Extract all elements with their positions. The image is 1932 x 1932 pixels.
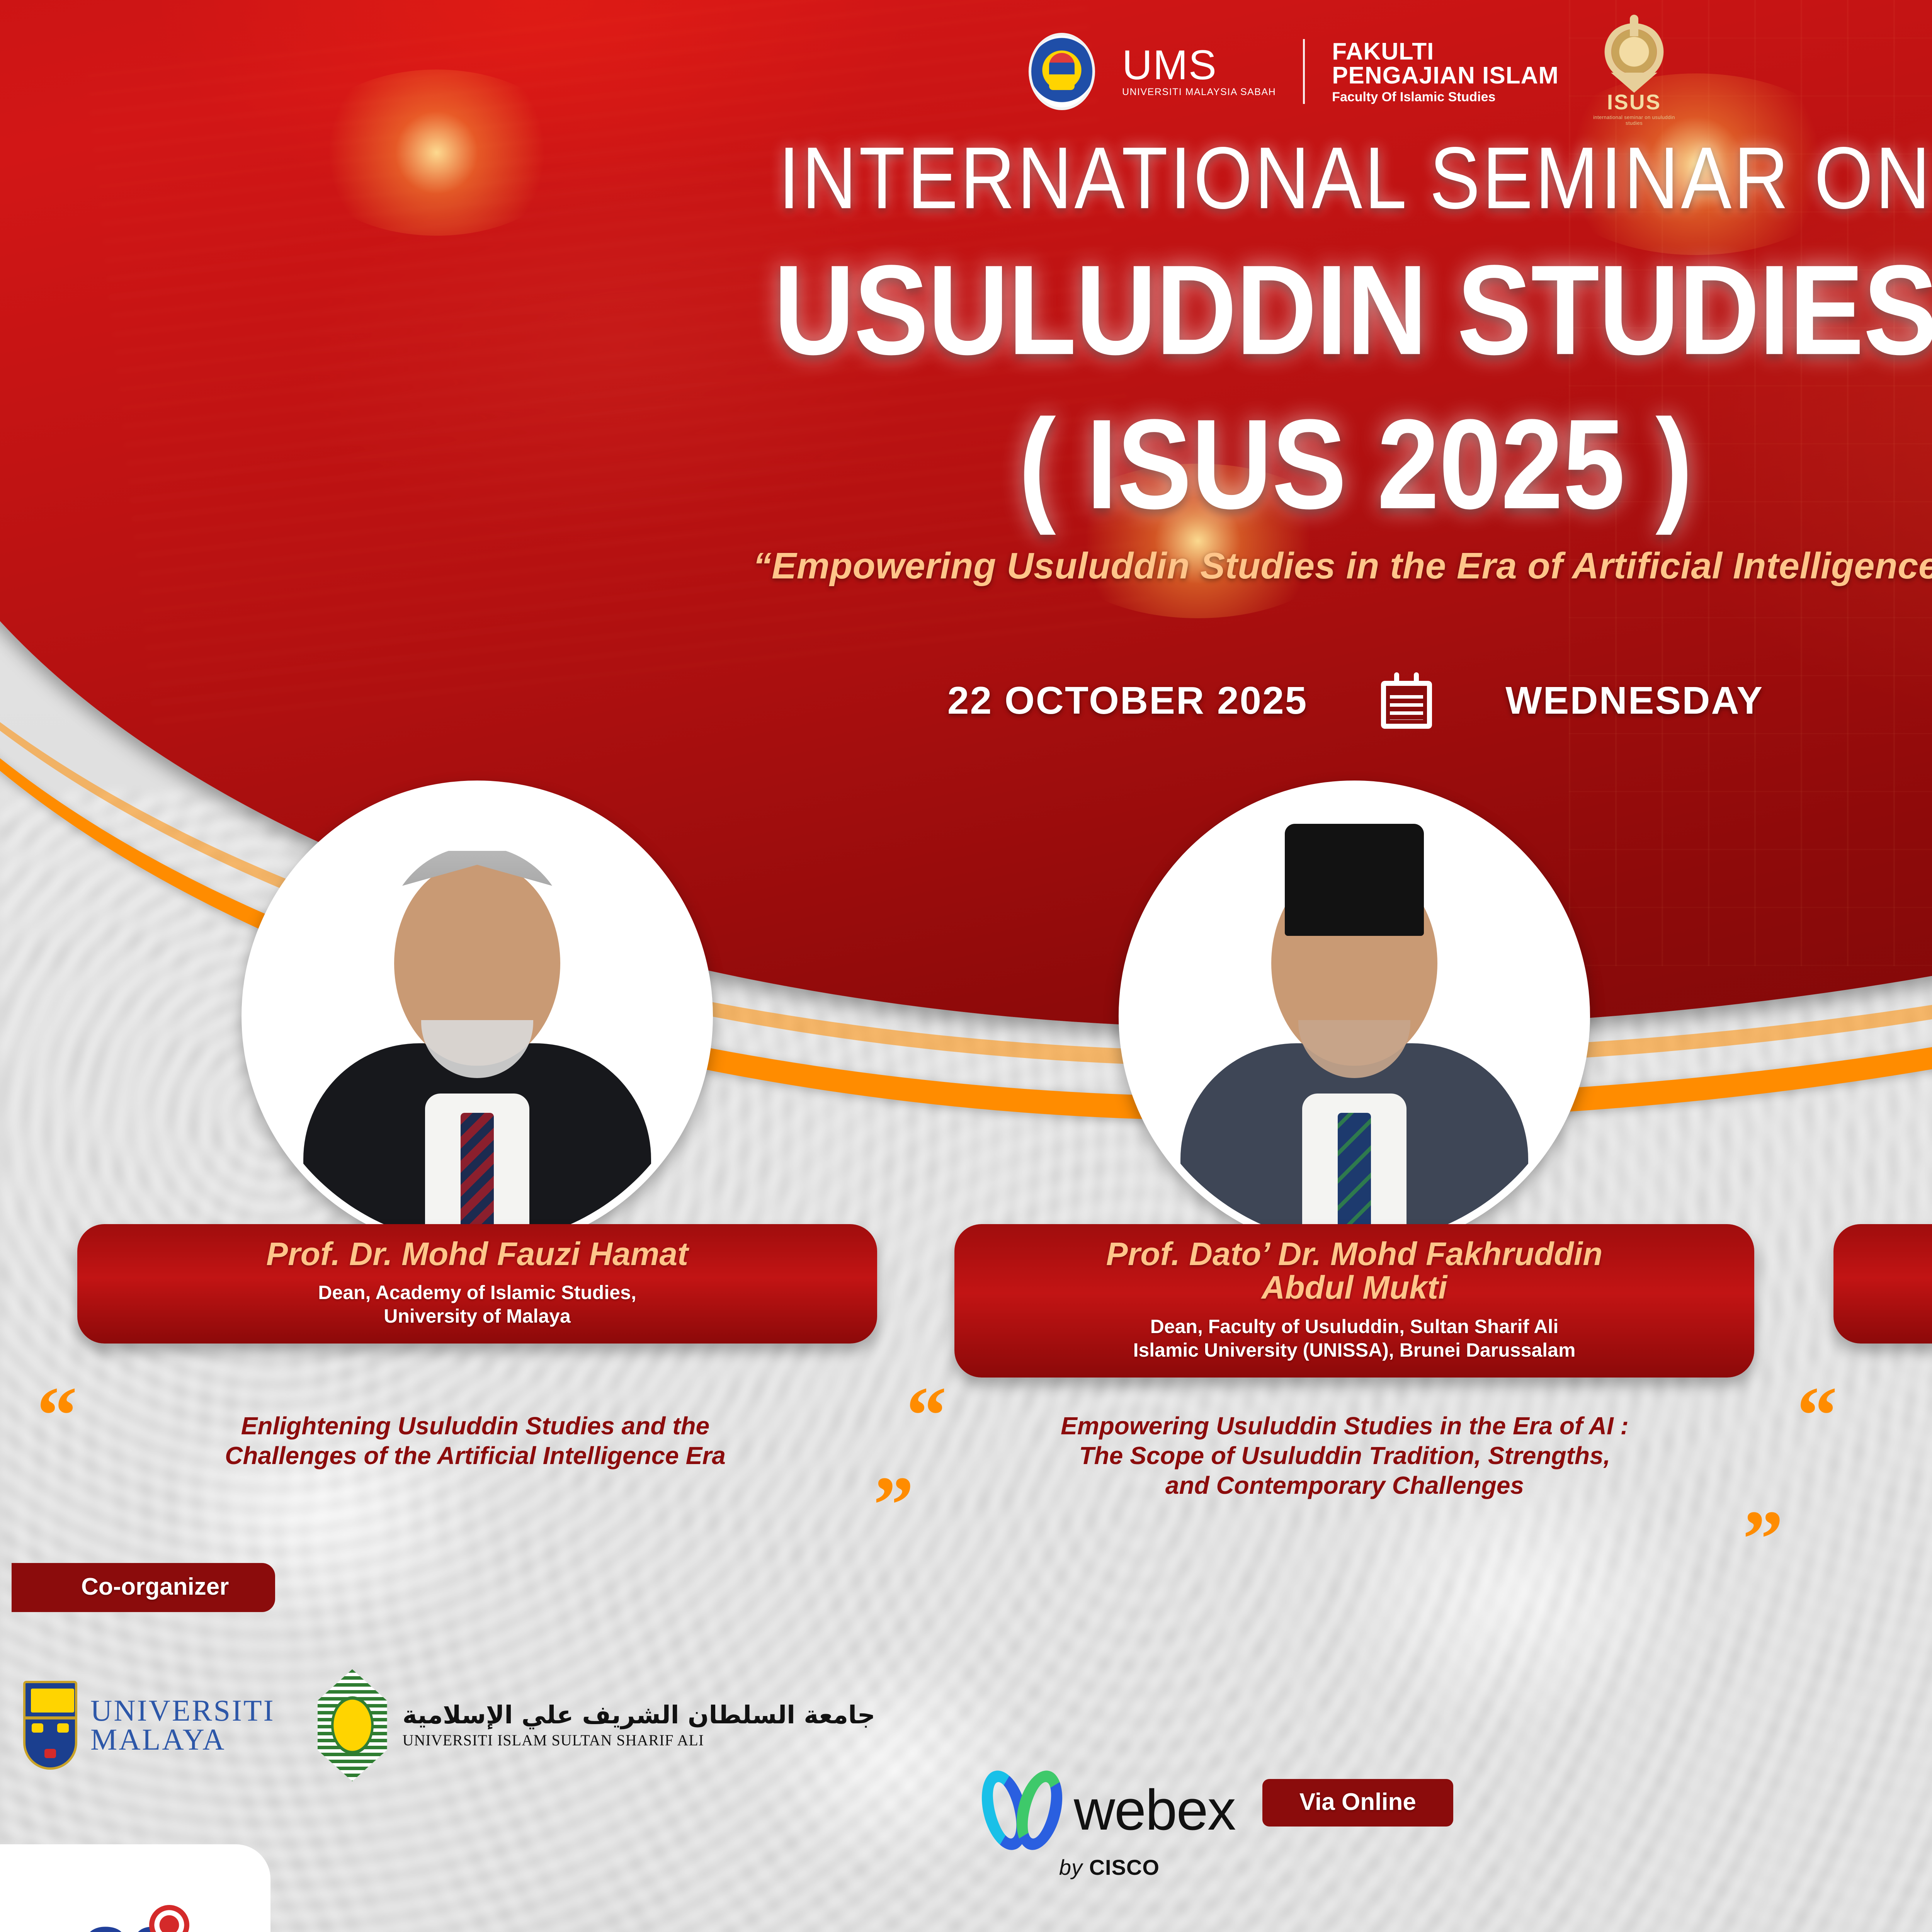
speaker-3-name-plate: Prof. Dr Muhamad Suhaimi Taat Dean, Facu… xyxy=(1833,1224,1932,1344)
topic-1: “ ” Enlightening Usuluddin Studies and t… xyxy=(37,1391,914,1471)
topic-2-text: Empowering Usuluddin Studies in the Era … xyxy=(906,1411,1783,1500)
unissa-emblem-icon xyxy=(318,1669,387,1781)
faculty-wordmark: FAKULTI PENGAJIAN ISLAM Faculty Of Islam… xyxy=(1332,40,1559,104)
speaker-1-avatar xyxy=(241,781,713,1252)
speaker-2-name-line2: Abdul Mukti xyxy=(978,1271,1731,1304)
speaker-3-name: Prof. Dr Muhamad Suhaimi Taat xyxy=(1857,1237,1932,1271)
faculty-line2: PENGAJIAN ISLAM xyxy=(1332,64,1559,88)
um-shield-icon xyxy=(23,1681,77,1770)
unissa-logo: جامعة السلطان الشريف علي الإسلامية UNIVE… xyxy=(318,1669,876,1781)
title-line1: INTERNATIONAL SEMINAR ON xyxy=(0,128,1932,228)
webex-icon xyxy=(983,1770,1061,1851)
topic-2: “ ” Empowering Usuluddin Studies in the … xyxy=(906,1391,1783,1500)
unissa-arabic-name: جامعة السلطان الشريف علي الإسلامية xyxy=(403,1702,876,1729)
quote-open-icon: “ xyxy=(37,1391,77,1440)
speaker-1-role-line1: Dean, Academy of Islamic Studies, xyxy=(100,1281,854,1304)
title-line2: USULUDDIN STUDIES xyxy=(0,237,1932,384)
um-crest-icon xyxy=(44,1749,56,1758)
via-online-badge: Via Online xyxy=(1262,1779,1453,1827)
um-line1: UNIVERSITI xyxy=(90,1696,275,1725)
title-block: INTERNATIONAL SEMINAR ON USULUDDIN STUDI… xyxy=(0,128,1932,520)
webex-wordmark: webex xyxy=(1074,1784,1235,1836)
co-organizer-label: Co-organizer xyxy=(12,1563,275,1612)
poster-canvas: UMS UNIVERSITI MALAYSIA SABAH FAKULTI PE… xyxy=(0,0,1932,1932)
ums-full-text: UNIVERSITI MALAYSIA SABAH xyxy=(1122,87,1276,98)
speaker-2-name-line1: Prof. Dato’ Dr. Mohd Fakhruddin xyxy=(978,1237,1731,1271)
um-lion-icon xyxy=(57,1723,69,1733)
um-band xyxy=(26,1716,75,1719)
isus-sub-text: international seminar on usuluddin studi… xyxy=(1586,114,1682,126)
calendar-icon xyxy=(1381,672,1432,729)
logo-divider xyxy=(1303,39,1305,104)
webex-by-cisco: by CISCO xyxy=(983,1855,1235,1880)
um-book-icon xyxy=(31,1689,74,1713)
topic-1-line1: Enlightening Usuluddin Studies and the xyxy=(118,1411,833,1441)
speaker-2-role-line2: Islamic University (UNISSA), Brunei Daru… xyxy=(978,1338,1731,1362)
topics-section: “ ” Enlightening Usuluddin Studies and t… xyxy=(0,1391,1932,1553)
um-line2: MALAYA xyxy=(90,1725,275,1754)
webex-logo: webex xyxy=(983,1770,1235,1851)
isus-abbr-text: ISUS xyxy=(1586,90,1682,114)
speaker-card-1: Prof. Dr. Mohd Fauzi Hamat Dean, Academy… xyxy=(43,781,912,1344)
calendar-body xyxy=(1381,681,1432,729)
topic-3-line3: Technological Innovation xyxy=(1878,1471,1932,1500)
seminar-subtitle: “Empowering Usuluddin Studies in the Era… xyxy=(0,545,1932,587)
unissa-wordmark: جامعة السلطان الشريف علي الإسلامية UNIVE… xyxy=(403,1702,876,1749)
speaker-1-name-plate: Prof. Dr. Mohd Fauzi Hamat Dean, Academy… xyxy=(77,1224,877,1344)
webex-cisco-brand: CISCO xyxy=(1089,1855,1160,1879)
speaker-card-2: Prof. Dato’ Dr. Mohd Fakhruddin Abdul Mu… xyxy=(920,781,1789,1378)
speaker-1-name: Prof. Dr. Mohd Fauzi Hamat xyxy=(100,1237,854,1271)
speaker-2-name-plate: Prof. Dato’ Dr. Mohd Fakhruddin Abdul Mu… xyxy=(954,1224,1754,1378)
title-line3: ( ISUS 2025 ) xyxy=(0,391,1932,538)
university-malaya-logo: UNIVERSITI MALAYA xyxy=(23,1681,275,1770)
event-date-row: 22 OCTOBER 2025 WEDNESDAY xyxy=(0,672,1932,729)
anniversary-number: 30 xyxy=(81,1918,174,1932)
um-wordmark: UNIVERSITI MALAYA xyxy=(90,1696,275,1754)
portrait-songkok-cap xyxy=(1285,824,1424,936)
topic-2-line3: and Contemporary Challenges xyxy=(987,1471,1702,1500)
topic-2-line1: Empowering Usuluddin Studies in the Era … xyxy=(987,1411,1702,1441)
speaker-2-role: Dean, Faculty of Usuluddin, Sultan Shari… xyxy=(978,1315,1731,1362)
event-day-text: WEDNESDAY xyxy=(1505,679,1764,723)
faculty-line1: FAKULTI xyxy=(1332,40,1559,64)
header-logo-bar: UMS UNIVERSITI MALAYSIA SABAH FAKULTI PE… xyxy=(0,15,1932,128)
quote-open-icon: “ xyxy=(906,1391,947,1440)
speaker-3-role-line2: University Malaysia Sabah xyxy=(1857,1304,1932,1328)
speaker-1-role: Dean, Academy of Islamic Studies, Univer… xyxy=(100,1281,854,1328)
topic-3-line2: Between the Legacy of Knowledge and xyxy=(1878,1441,1932,1471)
webex-by-prefix: by xyxy=(1059,1855,1089,1879)
webex-logo-group: webex by CISCO xyxy=(983,1770,1235,1880)
speakers-section: Prof. Dr. Mohd Fauzi Hamat Dean, Academy… xyxy=(0,781,1932,1406)
speaker-1-role-line2: University of Malaya xyxy=(100,1304,854,1328)
speaker-2-avatar xyxy=(1119,781,1590,1252)
faculty-line3: Faculty Of Islamic Studies xyxy=(1332,90,1559,104)
speaker-2-name: Prof. Dato’ Dr. Mohd Fakhruddin Abdul Mu… xyxy=(978,1237,1731,1305)
isus-emblem-icon xyxy=(1602,23,1667,88)
speaker-3-role-line1: Dean, Faculty of Islamic Studies, xyxy=(1857,1281,1932,1304)
topic-3-line1: Usuluddin and the AI Revolution : xyxy=(1878,1411,1932,1441)
speaker-1-portrait xyxy=(249,788,705,1244)
co-organizer-logos: UNIVERSITI MALAYA جامعة السلطان الشريف ع… xyxy=(23,1669,875,1781)
topic-1-text: Enlightening Usuluddin Studies and the C… xyxy=(37,1411,914,1471)
isus-logo: ISUS international seminar on usuluddin … xyxy=(1586,23,1682,120)
quote-open-icon: “ xyxy=(1797,1391,1837,1440)
anniversary-logo: 30 UNIVERSITI MALAYSIA SABAH 1994-2024 xyxy=(37,1918,218,1932)
topic-1-line2: Challenges of the Artificial Intelligenc… xyxy=(118,1441,833,1471)
speaker-3-role: Dean, Faculty of Islamic Studies, Univer… xyxy=(1857,1281,1932,1328)
speaker-2-portrait xyxy=(1126,788,1582,1244)
unissa-english-name: UNIVERSITI ISLAM SULTAN SHARIF ALI xyxy=(403,1732,876,1749)
speaker-card-3: Prof. Dr Muhamad Suhaimi Taat Dean, Facu… xyxy=(1799,781,1932,1344)
ums-abbr-text: UMS xyxy=(1122,45,1276,85)
quote-close-icon: ” xyxy=(1743,1515,1783,1563)
ums-wordmark: UMS UNIVERSITI MALAYSIA SABAH xyxy=(1122,45,1276,98)
speaker-2-role-line1: Dean, Faculty of Usuluddin, Sultan Shari… xyxy=(978,1315,1731,1338)
um-lion-icon xyxy=(32,1723,43,1733)
topic-3: “ ” Usuluddin and the AI Revolution : Be… xyxy=(1797,1391,1932,1500)
event-date-text: 22 OCTOBER 2025 xyxy=(947,679,1308,723)
platform-block: webex by CISCO Via Online xyxy=(983,1770,1453,1880)
ums-crest-icon xyxy=(1029,33,1095,110)
topic-2-line2: The Scope of Usuluddin Tradition, Streng… xyxy=(987,1441,1702,1471)
